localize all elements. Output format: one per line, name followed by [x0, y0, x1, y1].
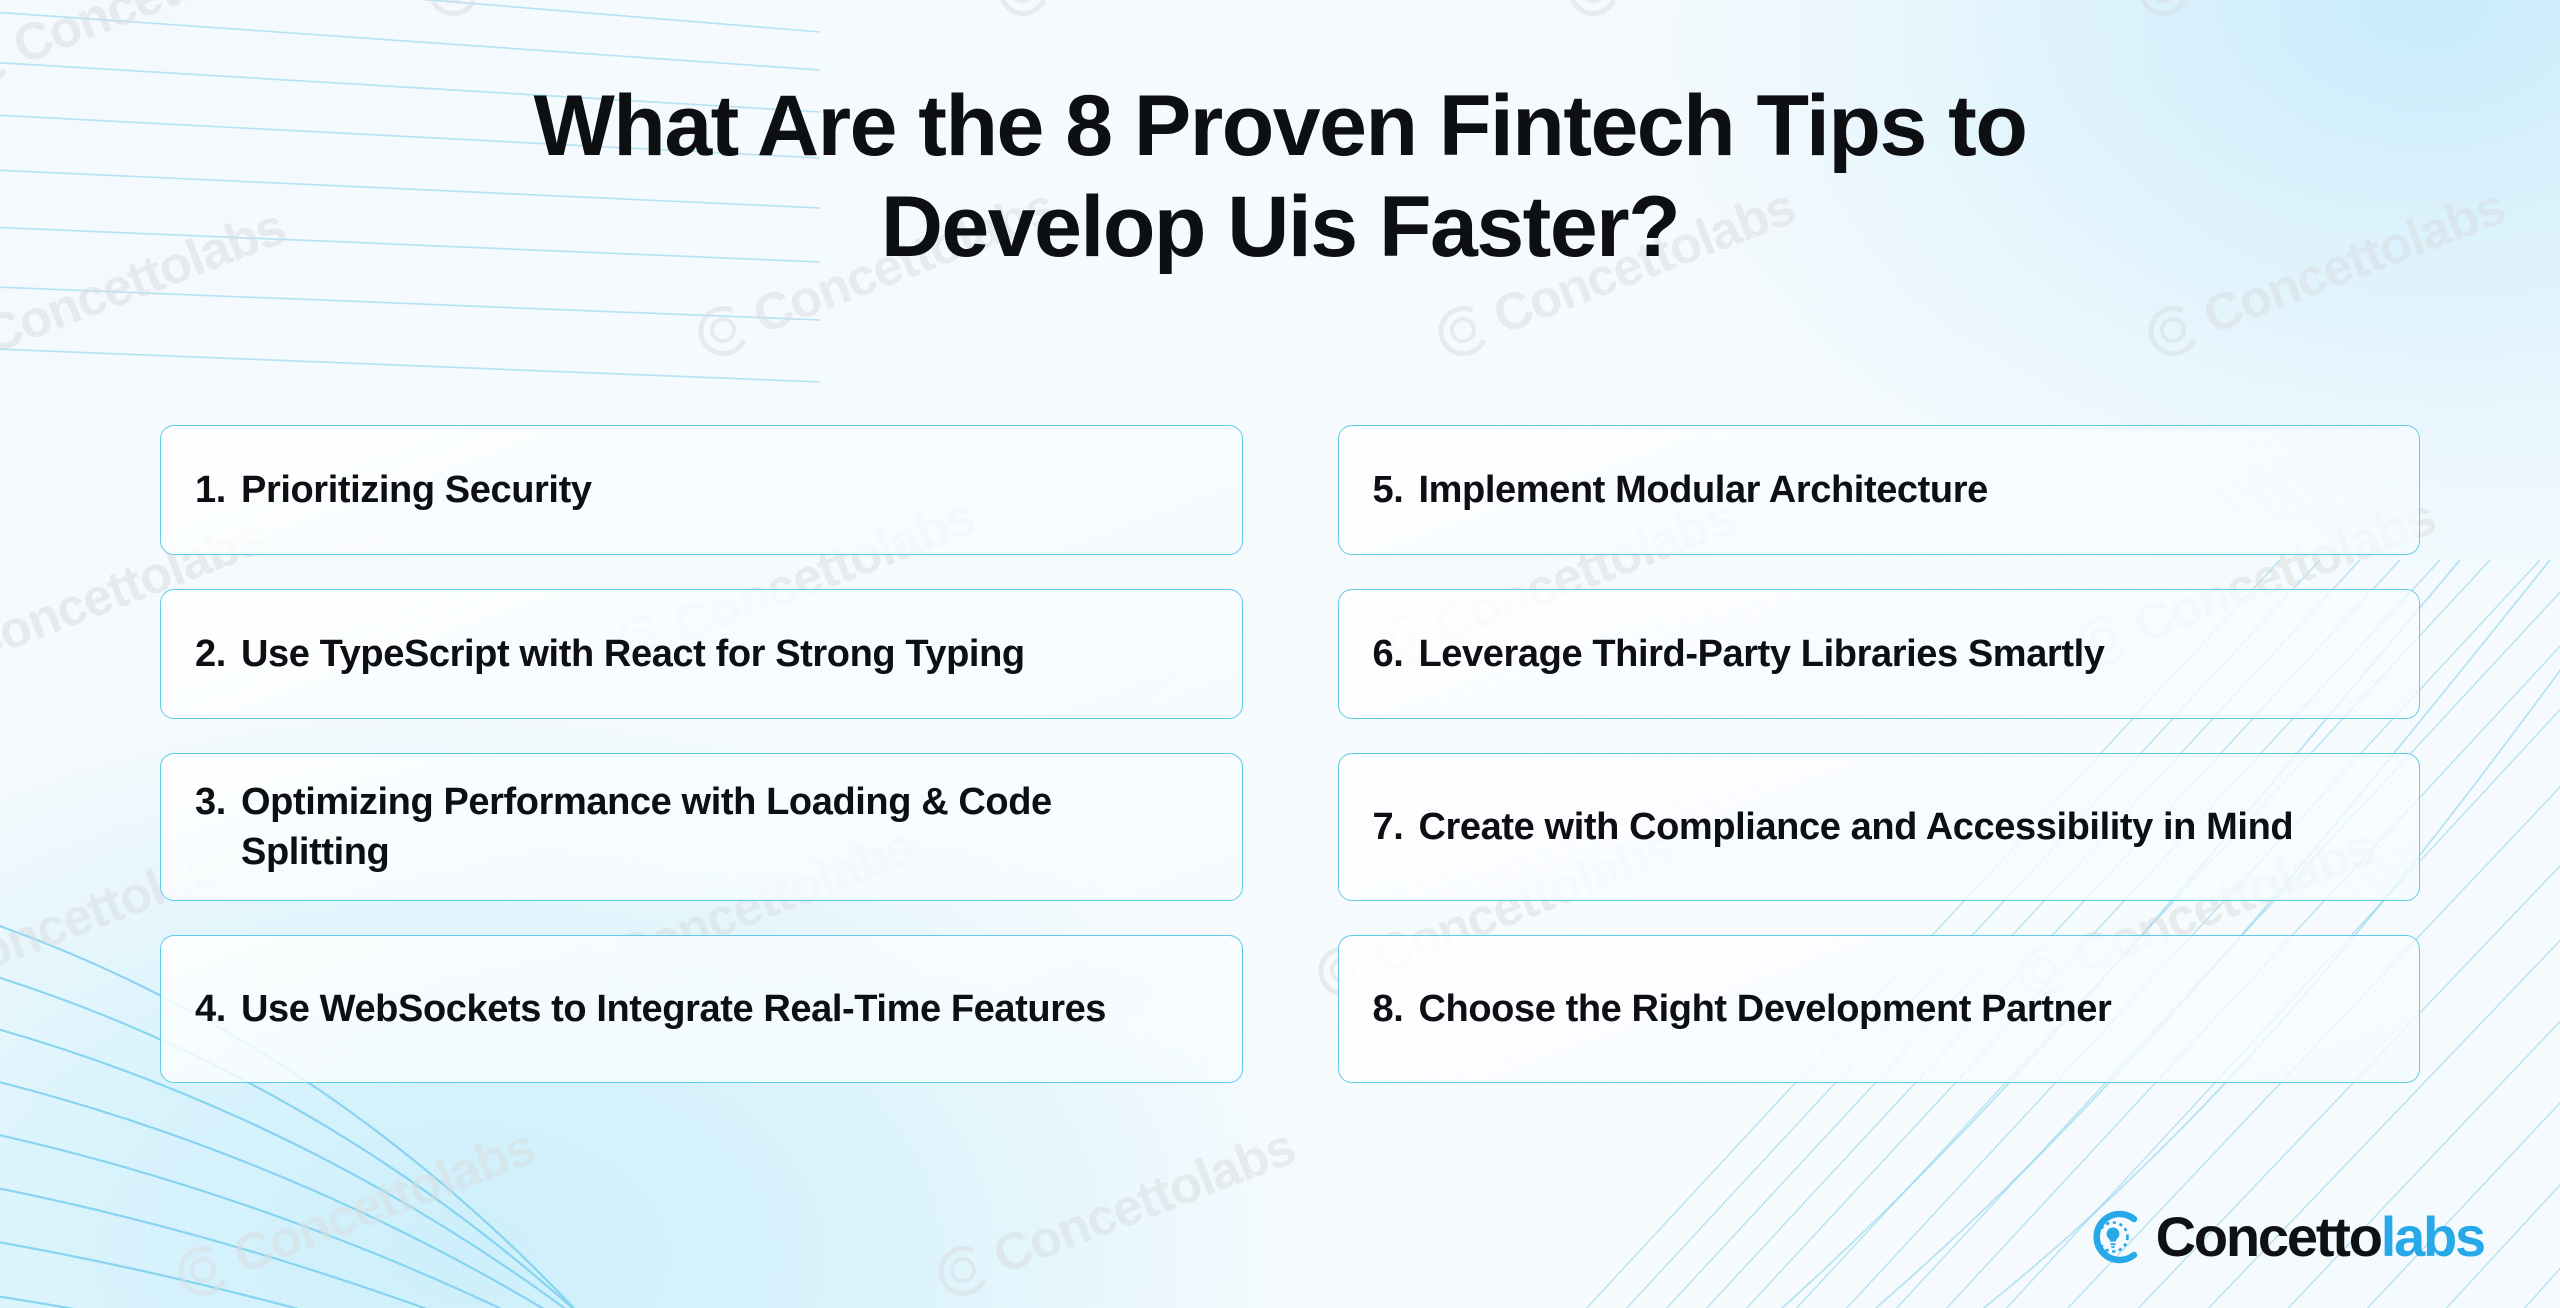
- watermark-logo-icon: [421, 0, 486, 23]
- logo-word-blue: labs: [2381, 1205, 2484, 1268]
- watermark: Concettolabs: [989, 0, 1363, 28]
- tip-number: 6.: [1373, 629, 1419, 679]
- tip-card-8[interactable]: 8. Choose the Right Development Partner: [1338, 935, 2421, 1083]
- watermark-text: Concettolabs: [985, 1117, 1303, 1287]
- tip-card-2[interactable]: 2. Use TypeScript with React for Strong …: [160, 589, 1243, 719]
- watermark-text: Concettolabs: [225, 1117, 543, 1287]
- logo-wordmark: Concettolabs: [2156, 1209, 2484, 1265]
- tip-number: 1.: [195, 465, 241, 515]
- tip-number: 4.: [195, 984, 241, 1034]
- brand-logo[interactable]: Concettolabs: [2086, 1206, 2484, 1268]
- tip-label-text: Use TypeScript with React for Strong Typ…: [241, 629, 1208, 679]
- watermark-text: Concettolabs: [2195, 177, 2513, 347]
- watermark-text: Concettolabs: [1045, 0, 1363, 7]
- watermark: Concettolabs: [0, 197, 293, 388]
- watermark-logo-icon: [171, 1239, 236, 1304]
- tip-number: 3.: [195, 777, 241, 827]
- tip-card-5[interactable]: 5. Implement Modular Architecture: [1338, 425, 2421, 555]
- watermark-logo-icon: [2141, 299, 2206, 364]
- tip-card-7[interactable]: 7. Create with Compliance and Accessibil…: [1338, 753, 2421, 901]
- tip-card-4[interactable]: 4. Use WebSockets to Integrate Real-Time…: [160, 935, 1243, 1083]
- tip-number: 2.: [195, 629, 241, 679]
- tip-number: 8.: [1373, 984, 1419, 1034]
- infographic-canvas: Concettolabs Concettolabs Concettolabs C…: [0, 0, 2560, 1308]
- watermark-logo-icon: [991, 0, 1056, 23]
- page-title-line-2: Develop Uis Faster?: [881, 179, 1679, 275]
- page-title-line-1: What Are the 8 Proven Fintech Tips to: [534, 78, 2027, 174]
- tip-label-text: Prioritizing Security: [241, 465, 1208, 515]
- watermark: Concettolabs: [2129, 0, 2503, 28]
- watermark-text: Concettolabs: [0, 197, 293, 367]
- watermark-logo-icon: [1561, 0, 1626, 23]
- watermark-logo-icon: [0, 29, 16, 94]
- page-title: What Are the 8 Proven Fintech Tips to De…: [330, 76, 2230, 279]
- watermark-logo-icon: [1431, 299, 1496, 364]
- tip-card-6[interactable]: 6. Leverage Third-Party Libraries Smartl…: [1338, 589, 2421, 719]
- lightbulb-in-c-icon: [2086, 1206, 2148, 1268]
- watermark-text: Concettolabs: [475, 0, 793, 7]
- tip-label-text: Implement Modular Architecture: [1419, 465, 2386, 515]
- watermark: Concettolabs: [419, 0, 793, 28]
- tip-number: 5.: [1373, 465, 1419, 515]
- watermark: Concettolabs: [0, 0, 323, 98]
- watermark-logo-icon: [691, 299, 756, 364]
- watermark: Concettolabs: [1559, 0, 1933, 28]
- tip-label-text: Optimizing Performance with Loading & Co…: [241, 777, 1208, 877]
- tip-label-text: Choose the Right Development Partner: [1419, 984, 2386, 1034]
- tip-card-1[interactable]: 1. Prioritizing Security: [160, 425, 1243, 555]
- watermark: Concettolabs: [929, 1117, 1303, 1308]
- tip-label-text: Leverage Third-Party Libraries Smartly: [1419, 629, 2386, 679]
- tip-label-text: Use WebSockets to Integrate Real-Time Fe…: [241, 984, 1208, 1034]
- tips-grid: 1. Prioritizing Security 5. Implement Mo…: [160, 425, 2420, 1083]
- tip-card-3[interactable]: 3. Optimizing Performance with Loading &…: [160, 753, 1243, 901]
- watermark-logo-icon: [931, 1239, 996, 1304]
- watermark: Concettolabs: [169, 1117, 543, 1308]
- logo-word-dark: Concetto: [2156, 1205, 2381, 1268]
- watermark-text: Concettolabs: [1615, 0, 1933, 7]
- watermark-text: Concettolabs: [2185, 0, 2503, 7]
- tip-label-text: Create with Compliance and Accessibility…: [1419, 802, 2386, 852]
- watermark-text: Concettolabs: [5, 0, 323, 77]
- watermark-logo-icon: [2131, 0, 2196, 23]
- tip-number: 7.: [1373, 802, 1419, 852]
